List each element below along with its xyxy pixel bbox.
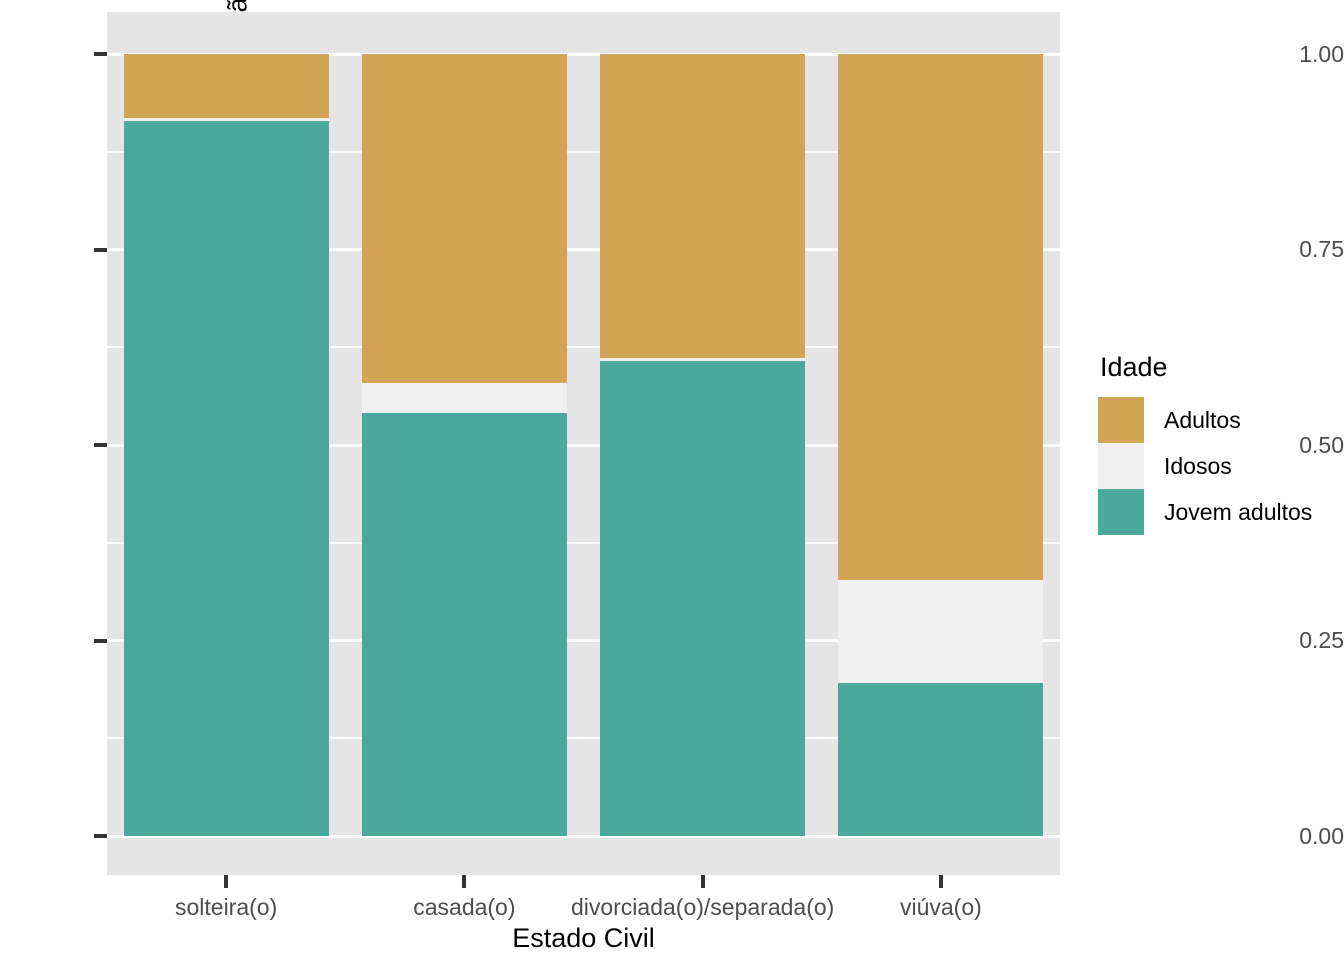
y-axis-tick-mark <box>94 52 107 56</box>
bar-segment[interactable] <box>124 121 329 836</box>
stacked-bar[interactable] <box>600 54 805 836</box>
stacked-bar[interactable] <box>124 54 329 836</box>
bar-segment[interactable] <box>362 383 567 413</box>
y-axis-tick-mark <box>94 639 107 643</box>
bar-segment[interactable] <box>600 54 805 358</box>
bar-segment[interactable] <box>600 361 805 836</box>
stacked-bar[interactable] <box>362 54 567 836</box>
x-axis-tick-mark <box>462 875 466 888</box>
y-axis-tick-label: 0.75 <box>1252 235 1344 265</box>
legend-label: Adultos <box>1164 407 1241 434</box>
legend-item[interactable]: Idosos <box>1098 443 1312 489</box>
y-axis-tick-label: 0.00 <box>1252 821 1344 851</box>
x-axis-tick-mark <box>224 875 228 888</box>
legend-label: Idosos <box>1164 453 1232 480</box>
legend-key <box>1098 397 1144 443</box>
chart-root: Proporção (%) 0.000.250.500.751.00 solte… <box>0 0 1344 960</box>
bar-segment[interactable] <box>838 54 1043 580</box>
y-axis-tick-mark <box>94 834 107 838</box>
bar-segment[interactable] <box>124 118 329 121</box>
legend-label: Jovem adultos <box>1164 499 1312 526</box>
x-axis-tick-mark <box>939 875 943 888</box>
x-axis-tick-mark <box>701 875 705 888</box>
stacked-bar[interactable] <box>838 54 1043 836</box>
plot-panel <box>107 12 1060 875</box>
bar-segment[interactable] <box>838 683 1043 836</box>
bar-segment[interactable] <box>362 54 567 383</box>
bar-segment[interactable] <box>124 54 329 118</box>
legend-color-swatch <box>1098 489 1144 535</box>
legend-items: AdultosIdososJovem adultos <box>1098 397 1312 535</box>
x-axis-title: Estado Civil <box>107 918 1060 958</box>
legend-color-swatch <box>1098 443 1144 489</box>
legend-key <box>1098 489 1144 535</box>
legend-item[interactable]: Jovem adultos <box>1098 489 1312 535</box>
y-axis-tick-label: 1.00 <box>1252 39 1344 69</box>
legend-item[interactable]: Adultos <box>1098 397 1312 443</box>
legend-title: Idade <box>1100 352 1312 383</box>
y-axis-tick-mark <box>94 443 107 447</box>
bar-segment[interactable] <box>362 413 567 836</box>
legend-key <box>1098 443 1144 489</box>
bar-segment[interactable] <box>600 358 805 361</box>
legend-color-swatch <box>1098 397 1144 443</box>
y-axis-tick-mark <box>94 248 107 252</box>
bar-segment[interactable] <box>838 580 1043 682</box>
legend: Idade AdultosIdososJovem adultos <box>1098 352 1312 535</box>
y-axis-tick-label: 0.25 <box>1252 626 1344 656</box>
